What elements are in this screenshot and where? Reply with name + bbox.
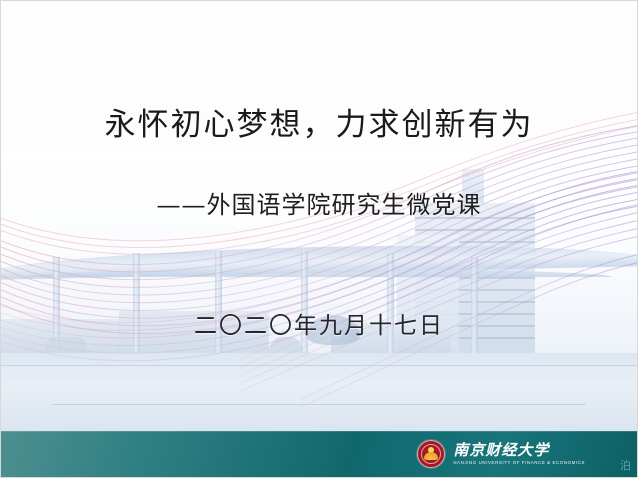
presentation-slide: 永怀初心梦想，力求创新有为 ——外国语学院研究生微党课 二〇二〇年九月十七日 南…	[0, 0, 638, 478]
corner-watermark: 泊	[620, 457, 631, 473]
slide-subtitle: ——外国语学院研究生微党课	[1, 185, 637, 220]
university-name-en: NANJING UNIVERSITY OF FINANCE & ECONOMIC…	[453, 461, 585, 465]
university-name-cn: 南京财经大学	[453, 443, 585, 458]
footer-bar: 南京财经大学 NANJING UNIVERSITY OF FINANCE & E…	[1, 431, 637, 477]
university-seal-icon	[417, 440, 445, 468]
university-brand: 南京财经大学 NANJING UNIVERSITY OF FINANCE & E…	[417, 440, 585, 468]
slide-title: 永怀初心梦想，力求创新有为	[1, 99, 637, 144]
university-wordmark: 南京财经大学 NANJING UNIVERSITY OF FINANCE & E…	[453, 443, 585, 465]
road-marking	[52, 404, 586, 405]
plaza-ground	[1, 353, 637, 431]
slide-date: 二〇二〇年九月十七日	[1, 306, 637, 340]
seal-sun-icon	[428, 447, 434, 453]
